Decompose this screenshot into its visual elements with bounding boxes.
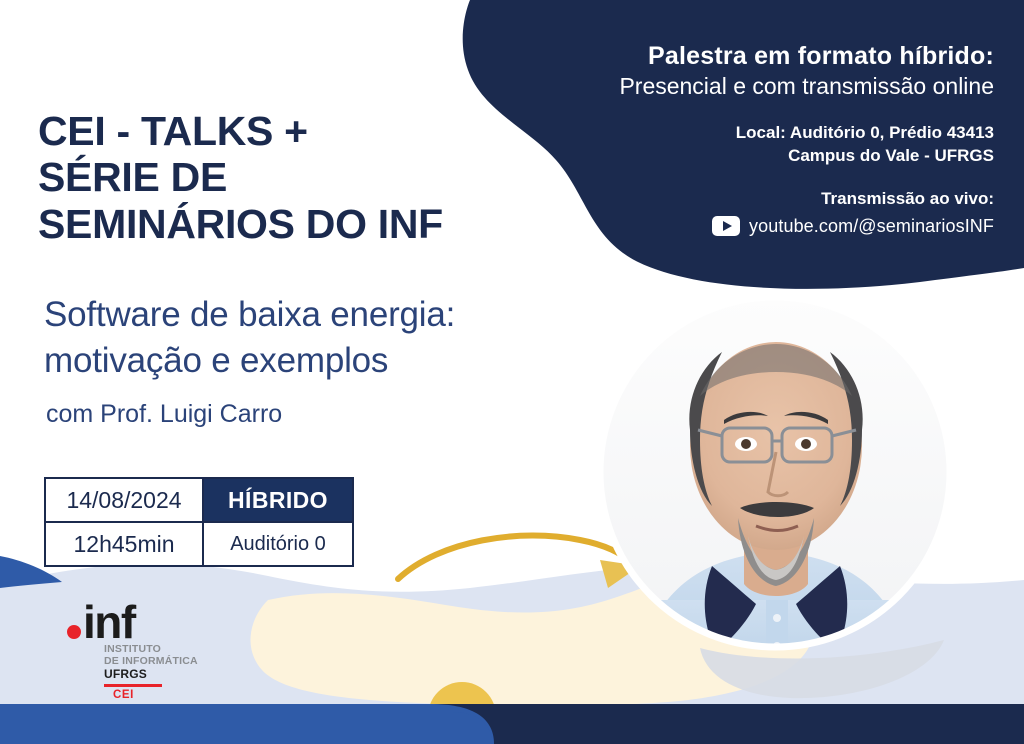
bottom-navy-band [0, 704, 1024, 744]
talk-title-line-2: motivação e exemplos [44, 338, 455, 384]
logo-line-ufrgs: UFRGS [104, 668, 237, 682]
photo-shadow [700, 640, 944, 698]
photo-ring [600, 297, 950, 647]
logo-red-rule [104, 684, 162, 687]
cream-blob [251, 565, 816, 705]
format-line-1: Palestra em formato híbrido: [524, 42, 994, 72]
event-room: Auditório 0 [203, 522, 353, 566]
table-row: 12h45min Auditório 0 [45, 522, 353, 566]
location-line-2: Campus do Vale - UFRGS [524, 145, 994, 168]
youtube-url[interactable]: youtube.com/@seminariosINF [749, 214, 994, 238]
location-line-1: Local: Auditório 0, Prédio 43413 [524, 122, 994, 145]
inf-wordmark-text: inf [83, 604, 135, 642]
logo-line-instituto: INSTITUTO [104, 643, 237, 655]
stream-block: Transmissão ao vivo: youtube.com/@semina… [524, 188, 994, 238]
gold-arrow-head [600, 560, 640, 588]
logo-line-cei: CEI [113, 689, 237, 701]
youtube-play-icon [712, 216, 740, 236]
speaker-portrait-art [600, 296, 952, 680]
inf-logo: inf INSTITUTO DE INFORMÁTICA UFRGS CEI [67, 596, 237, 688]
logo-line-informatica: DE INFORMÁTICA [104, 655, 237, 667]
event-poster: Palestra em formato híbrido: Presencial … [0, 0, 1024, 744]
yellow-circle [428, 682, 496, 744]
inf-logo-subtext: INSTITUTO DE INFORMÁTICA UFRGS CEI [104, 643, 237, 701]
bottom-blue-band-extension [0, 712, 492, 744]
main-title-line-3: SEMINÁRIOS DO INF [38, 201, 443, 247]
event-details-table: 14/08/2024 HÍBRIDO 12h45min Auditório 0 [44, 477, 354, 567]
stream-label: Transmissão ao vivo: [524, 188, 994, 211]
talk-title-line-1: Software de baixa energia: [44, 292, 455, 338]
inf-wordmark: inf [67, 596, 237, 642]
event-date: 14/08/2024 [45, 478, 203, 522]
speaker-name: com Prof. Luigi Carro [46, 400, 282, 429]
format-line-2: Presencial e com transmissão online [524, 73, 994, 101]
main-title-line-1: CEI - TALKS + [38, 108, 443, 154]
main-title-line-2: SÉRIE DE [38, 154, 443, 200]
gold-arrow-curve [398, 536, 632, 579]
talk-title: Software de baixa energia: motivação e e… [44, 292, 455, 384]
table-row: 14/08/2024 HÍBRIDO [45, 478, 353, 522]
bottom-blue-band [0, 704, 494, 744]
youtube-link[interactable]: youtube.com/@seminariosINF [524, 214, 994, 238]
location-block: Local: Auditório 0, Prédio 43413 Campus … [524, 122, 994, 168]
event-mode-badge: HÍBRIDO [203, 478, 353, 522]
event-time: 12h45min [45, 522, 203, 566]
red-dot-icon [67, 625, 81, 639]
header-info: Palestra em formato híbrido: Presencial … [524, 42, 994, 238]
page-title: CEI - TALKS + SÉRIE DE SEMINÁRIOS DO INF [38, 108, 443, 247]
